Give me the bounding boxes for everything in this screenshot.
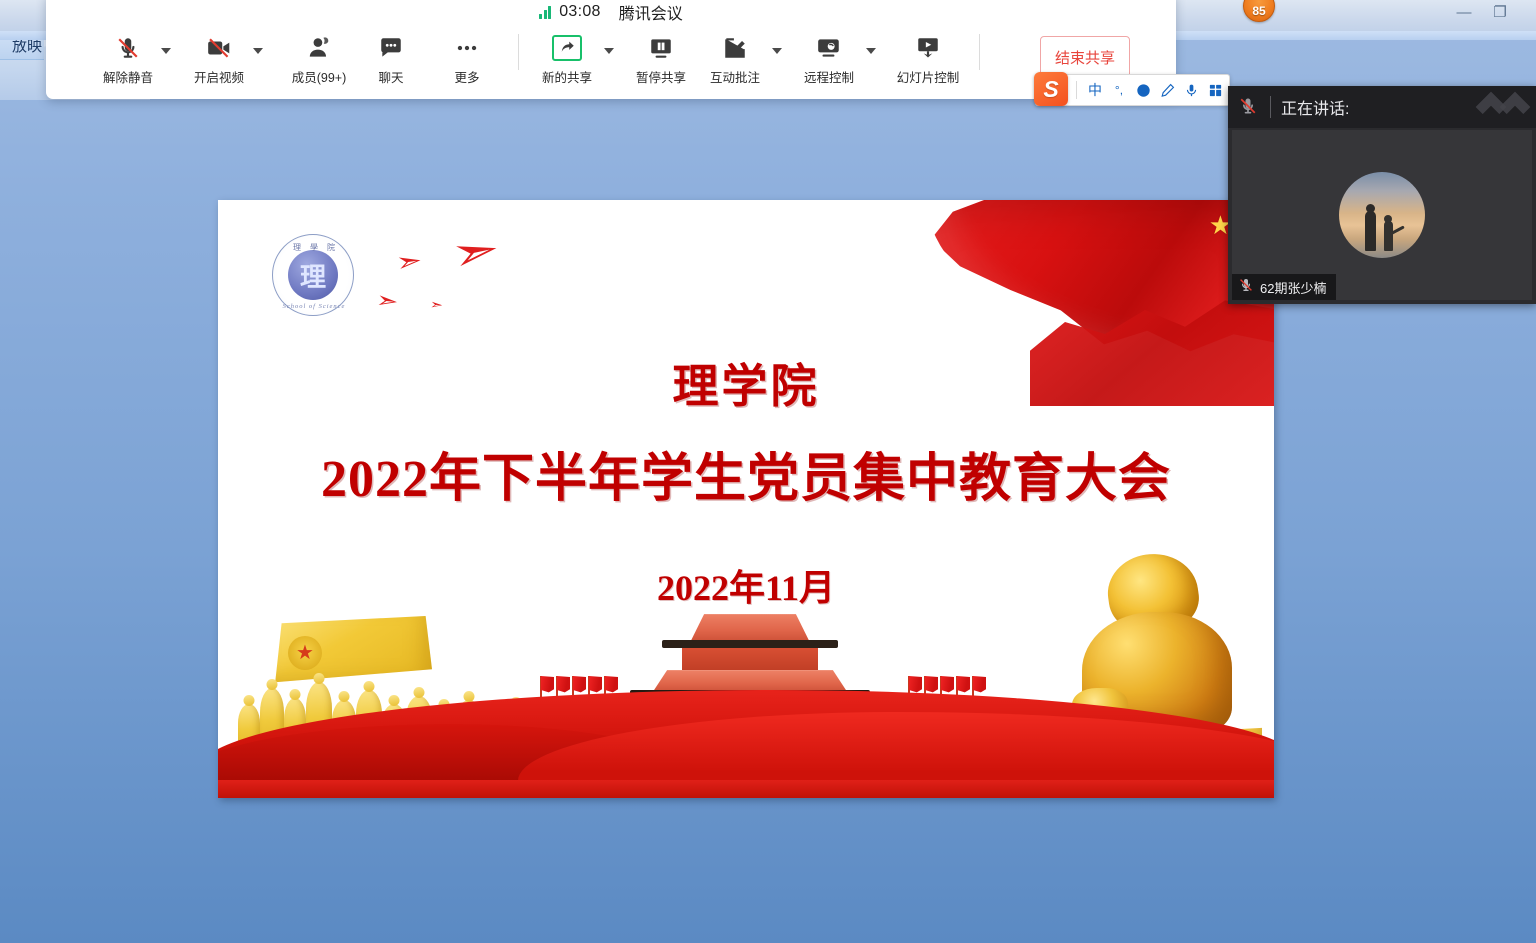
toolbar-label: 互动批注 — [710, 67, 760, 86]
toolbar-label: 远程控制 — [804, 67, 854, 86]
toolbar-label: 更多 — [454, 67, 479, 86]
flying-dove-icon: ➣ — [447, 223, 504, 278]
sogou-ime-bar: S 中 °, — [1035, 74, 1230, 106]
slide-title-line-2: 2022年下半年学生党员集中教育大会 — [218, 436, 1274, 511]
toolbar-button-unmute[interactable]: 解除静音 — [98, 28, 158, 90]
video-off-icon — [206, 32, 232, 64]
ime-divider — [1076, 81, 1077, 99]
pen-icon[interactable] — [1155, 77, 1179, 103]
tiananmen-upper-body — [682, 648, 818, 670]
toolbar-label: 成员(99+) — [292, 67, 347, 86]
speaking-label: 正在讲话: — [1281, 95, 1349, 119]
emoji-icon[interactable] — [1131, 77, 1155, 103]
toolbar-button-participants[interactable]: 成员(99+) — [280, 28, 358, 90]
toolbar-label: 聊天 — [378, 67, 403, 86]
share-options-chevron-down-icon[interactable] — [601, 28, 617, 90]
video-options-chevron-down-icon[interactable] — [250, 28, 266, 90]
army-emblem-icon: ★ — [288, 636, 322, 670]
annotate-pencil-icon — [722, 32, 748, 64]
annotate-options-chevron-down-icon[interactable] — [769, 28, 785, 90]
school-logo-top-text: 理學院 — [273, 242, 355, 253]
toolbar-label: 解除静音 — [103, 67, 153, 86]
microphone-icon[interactable] — [1179, 77, 1203, 103]
unmute-options-chevron-down-icon[interactable] — [158, 28, 174, 90]
minimize-icon[interactable]: — — [1451, 4, 1477, 22]
remote-options-chevron-down-icon[interactable] — [863, 28, 879, 90]
meeting-status-row: 03:08 腾讯会议 — [46, 0, 1176, 26]
participant-name: 62期张少楠 — [1260, 278, 1326, 297]
school-logo: 理學院 理 School of Science — [272, 234, 354, 316]
school-logo-monogram: 理 — [288, 250, 338, 300]
speaker-video-panel[interactable]: 正在讲话: 62期张少楠 — [1228, 86, 1536, 304]
meeting-toolbar: 03:08 腾讯会议 解除静音 — [46, 0, 1176, 99]
meeting-toolbar-items: 解除静音 开启视频 成员(99+ — [46, 26, 1176, 92]
flying-dove-icon: ➣ — [429, 298, 443, 312]
tiananmen-upper-roof-edge — [662, 640, 838, 648]
share-screen-icon — [552, 32, 582, 64]
meeting-timer: 03:08 — [559, 3, 601, 21]
speaker-video-area[interactable]: 62期张少楠 — [1232, 130, 1532, 300]
toolbar-divider — [518, 34, 519, 70]
mic-muted-icon — [1238, 96, 1260, 118]
pause-share-icon — [648, 32, 674, 64]
slide-bottom-artwork: ★ — [218, 568, 1274, 798]
toolbar-label: 暂停共享 — [636, 67, 686, 86]
ime-punctuation-toggle[interactable]: °, — [1107, 77, 1131, 103]
mic-muted-icon — [1238, 277, 1254, 298]
shared-slide[interactable]: ★ ★ ★ ★ 理學院 理 School of Science ➣ ➣ ➣ ➣ … — [218, 200, 1274, 798]
slideshow-control-icon — [915, 32, 941, 64]
mic-muted-icon — [115, 32, 141, 64]
participant-name-chip: 62期张少楠 — [1232, 274, 1336, 300]
toolbar-button-new-share[interactable]: 新的共享 — [533, 28, 601, 90]
signal-strength-icon — [539, 6, 551, 19]
toolbar-button-remote-control[interactable]: 远程控制 — [795, 28, 863, 90]
toolbar-button-start-video[interactable]: 开启视频 — [188, 28, 250, 90]
toolbar-button-pause-share[interactable]: 暂停共享 — [627, 28, 695, 90]
flying-dove-icon: ➣ — [375, 289, 399, 313]
toolbar-label: 新的共享 — [542, 67, 592, 86]
restore-icon[interactable]: ❐ — [1487, 4, 1513, 22]
toolbar-label: 开启视频 — [194, 67, 244, 86]
chat-icon — [378, 32, 404, 64]
chevrons-icon[interactable] — [1462, 94, 1526, 120]
tiananmen-upper-roof — [668, 610, 832, 644]
sogou-logo-icon[interactable]: S — [1034, 72, 1068, 106]
header-divider — [1270, 96, 1271, 118]
toolbar-button-slideshow-control[interactable]: 幻灯片控制 — [889, 28, 967, 90]
app-title: 腾讯会议 — [619, 0, 683, 24]
ime-mode-chinese[interactable]: 中 — [1083, 77, 1107, 103]
participants-icon — [306, 32, 332, 64]
flying-dove-icon: ➣ — [394, 246, 424, 275]
school-logo-bottom-text: School of Science — [273, 303, 355, 310]
slide-title-line-1: 理学院 — [218, 350, 1274, 416]
more-dots-icon — [454, 32, 480, 64]
toolbar-button-chat[interactable]: 聊天 — [358, 28, 424, 90]
apps-grid-icon[interactable] — [1203, 77, 1227, 103]
toolbar-button-more[interactable]: 更多 — [434, 28, 500, 90]
remote-control-icon — [816, 32, 842, 64]
toolbar-button-annotate[interactable]: 互动批注 — [701, 28, 769, 90]
avatar — [1339, 172, 1425, 258]
red-bottom-bar — [218, 780, 1274, 798]
toolbar-divider-2 — [979, 34, 980, 70]
speaker-panel-header: 正在讲话: — [1228, 86, 1536, 128]
toolbar-label: 幻灯片控制 — [897, 67, 960, 86]
